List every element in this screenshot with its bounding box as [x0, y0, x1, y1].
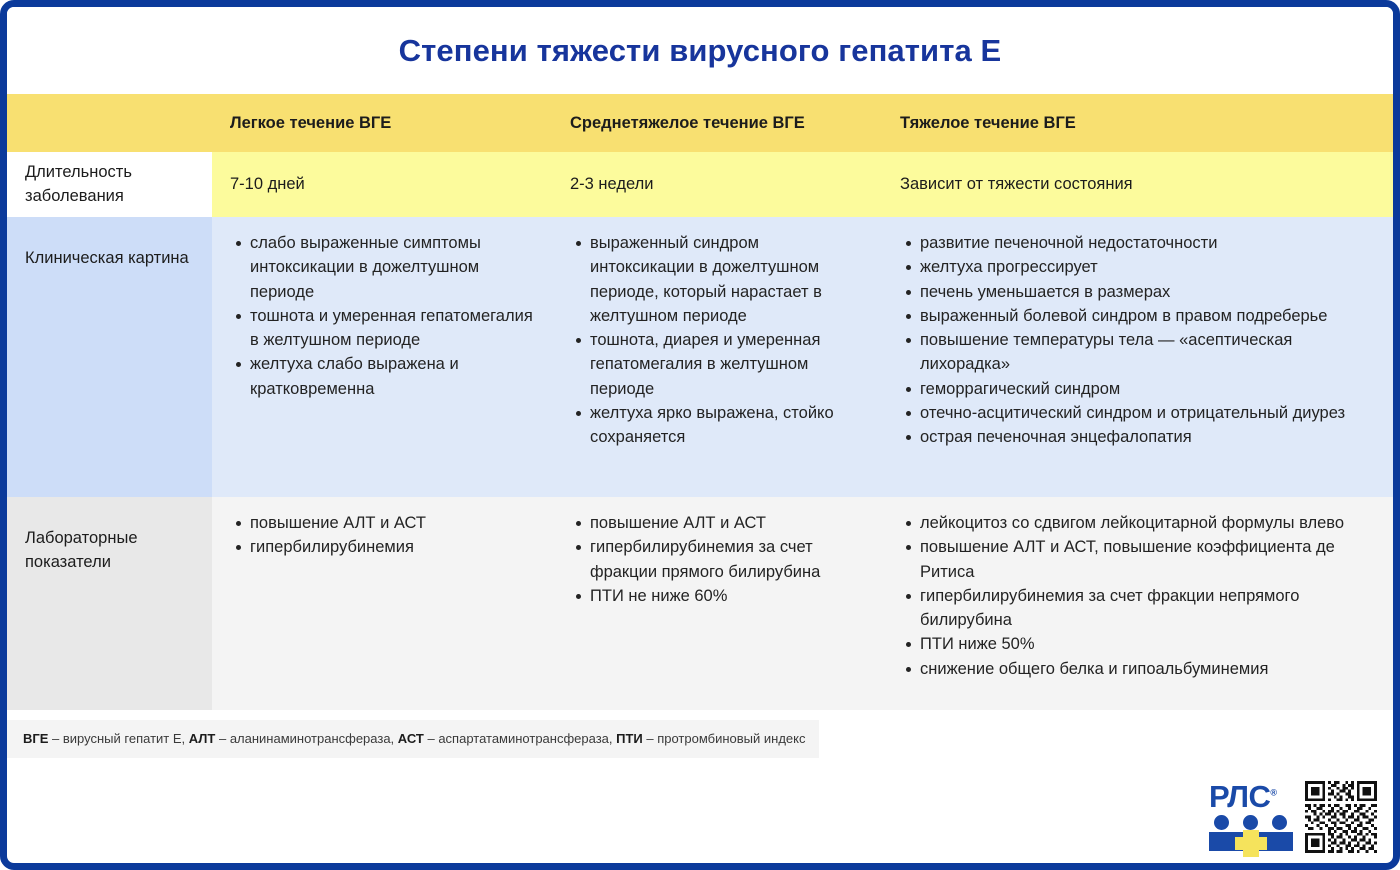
lab-mild-cell: повышение АЛТ и АСТгипербилирубинемия — [212, 497, 552, 710]
title-bar: Степени тяжести вирусного гепатита Е — [7, 7, 1393, 94]
header-cell-moderate: Среднетяжелое течение ВГЕ — [552, 94, 882, 152]
list-item: ПТИ не ниже 60% — [590, 584, 866, 608]
list-item: желтуха прогрессирует — [920, 255, 1377, 279]
list-item: повышение АЛТ и АСТ — [590, 511, 866, 535]
list-item: ПТИ ниже 50% — [920, 632, 1377, 656]
footnote-abbr-alt: АЛТ — [189, 731, 216, 746]
bullet-list: слабо выраженные симптомы интоксикации в… — [230, 231, 536, 401]
row-label-duration-cell: Длительность заболевания — [7, 152, 212, 217]
list-item: повышение АЛТ и АСТ — [250, 511, 536, 535]
figure-head-icon — [1272, 815, 1287, 830]
row-label-lab: Лабораторные показатели — [25, 511, 196, 575]
cross-icon — [1235, 837, 1267, 850]
list-item: повышение температуры тела — «асептическ… — [920, 328, 1377, 377]
abbreviations-footnote: ВГЕ – вирусный гепатит Е, АЛТ – аланинам… — [7, 720, 819, 758]
footnote-def-alt: – аланинаминотрансфераза, — [215, 731, 397, 746]
list-item: слабо выраженные симптомы интоксикации в… — [250, 231, 536, 304]
list-item: выраженный болевой синдром в правом подр… — [920, 304, 1377, 328]
lab-severe-cell: лейкоцитоз со сдвигом лейкоцитарной форм… — [882, 497, 1393, 710]
footnote-abbr-vge: ВГЕ — [23, 731, 48, 746]
header-cell-severe: Тяжелое течение ВГЕ — [882, 94, 1393, 152]
duration-severe-value: Зависит от тяжести состояния — [900, 175, 1133, 194]
bullet-list: повышение АЛТ и АСТгипербилирубинемия — [230, 511, 536, 560]
list-item: печень уменьшается в размерах — [920, 280, 1377, 304]
list-item: острая печеночная энцефалопатия — [920, 425, 1377, 449]
figure-head-icon — [1214, 815, 1229, 830]
row-label-clinical: Клиническая картина — [25, 231, 196, 271]
footnote-area: ВГЕ – вирусный гепатит Е, АЛТ – аланинам… — [7, 710, 1393, 758]
header-corner-cell — [7, 94, 212, 152]
clinical-moderate-cell: выраженный синдром интоксикации в дожелт… — [552, 217, 882, 497]
duration-moderate-value: 2-3 недели — [570, 175, 653, 194]
bullet-list: развитие печеночной недостаточностижелту… — [900, 231, 1377, 449]
duration-severe-cell: Зависит от тяжести состояния — [882, 152, 1393, 217]
clinical-severe-cell: развитие печеночной недостаточностижелту… — [882, 217, 1393, 497]
qr-code-icon[interactable] — [1305, 781, 1377, 853]
list-item: выраженный синдром интоксикации в дожелт… — [590, 231, 866, 328]
list-item: гипербилирубинемия — [250, 535, 536, 559]
page-title: Степени тяжести вирусного гепатита Е — [399, 33, 1002, 69]
table-row: Длительность заболевания 7-10 дней 2-3 н… — [7, 152, 1393, 217]
list-item: желтуха слабо выражена и кратковременна — [250, 352, 536, 401]
footnote-def-vge: – вирусный гепатит Е, — [48, 731, 188, 746]
list-item: отечно-асцитический синдром и отрицатель… — [920, 401, 1377, 425]
list-item: гипербилирубинемия за счет фракции непря… — [920, 584, 1377, 633]
header-cell-mild: Легкое течение ВГЕ — [212, 94, 552, 152]
header-label-moderate: Среднетяжелое течение ВГЕ — [570, 114, 805, 133]
row-label-clinical-cell: Клиническая картина — [7, 217, 212, 497]
rls-wordmark: РЛС® — [1209, 781, 1293, 812]
rls-figures-icon — [1209, 815, 1293, 851]
list-item: повышение АЛТ и АСТ, повышение коэффицие… — [920, 535, 1377, 584]
duration-moderate-cell: 2-3 недели — [552, 152, 882, 217]
figure-head-icon — [1243, 815, 1258, 830]
list-item: желтуха ярко выражена, стойко сохраняетс… — [590, 401, 866, 450]
rls-logo: РЛС® — [1209, 781, 1293, 853]
footnote-abbr-pti: ПТИ — [616, 731, 643, 746]
duration-mild-cell: 7-10 дней — [212, 152, 552, 217]
bullet-list: выраженный синдром интоксикации в дожелт… — [570, 231, 866, 449]
footnote-abbr-ast: АСТ — [398, 731, 424, 746]
registered-mark: ® — [1270, 788, 1276, 798]
list-item: тошнота и умеренная гепатомегалия в желт… — [250, 304, 536, 353]
header-label-severe: Тяжелое течение ВГЕ — [900, 114, 1076, 133]
list-item: развитие печеночной недостаточности — [920, 231, 1377, 255]
footnote-def-ast: – аспартатаминотрансфераза, — [424, 731, 616, 746]
lab-moderate-cell: повышение АЛТ и АСТгипербилирубинемия за… — [552, 497, 882, 710]
rls-wordmark-text: РЛС — [1209, 779, 1270, 814]
duration-mild-value: 7-10 дней — [230, 175, 305, 194]
table-header-row: Легкое течение ВГЕ Среднетяжелое течение… — [7, 94, 1393, 152]
list-item: тошнота, диарея и умеренная гепатомегали… — [590, 328, 866, 401]
row-label-lab-cell: Лабораторные показатели — [7, 497, 212, 710]
row-label-duration: Длительность заболевания — [25, 161, 196, 209]
list-item: снижение общего белка и гипоальбуминемия — [920, 657, 1377, 681]
bullet-list: повышение АЛТ и АСТгипербилирубинемия за… — [570, 511, 866, 608]
footnote-def-pti: – протромбиновый индекс — [643, 731, 806, 746]
clinical-mild-cell: слабо выраженные симптомы интоксикации в… — [212, 217, 552, 497]
list-item: геморрагический синдром — [920, 377, 1377, 401]
brand-area: РЛС® — [1209, 781, 1377, 853]
table-row: Лабораторные показатели повышение АЛТ и … — [7, 497, 1393, 710]
list-item: лейкоцитоз со сдвигом лейкоцитарной форм… — [920, 511, 1377, 535]
list-item: гипербилирубинемия за счет фракции прямо… — [590, 535, 866, 584]
severity-table: Легкое течение ВГЕ Среднетяжелое течение… — [7, 94, 1393, 710]
header-label-mild: Легкое течение ВГЕ — [230, 114, 391, 133]
table-row: Клиническая картина слабо выраженные сим… — [7, 217, 1393, 497]
bullet-list: лейкоцитоз со сдвигом лейкоцитарной форм… — [900, 511, 1377, 681]
infographic-page: Степени тяжести вирусного гепатита Е Лег… — [0, 0, 1400, 870]
